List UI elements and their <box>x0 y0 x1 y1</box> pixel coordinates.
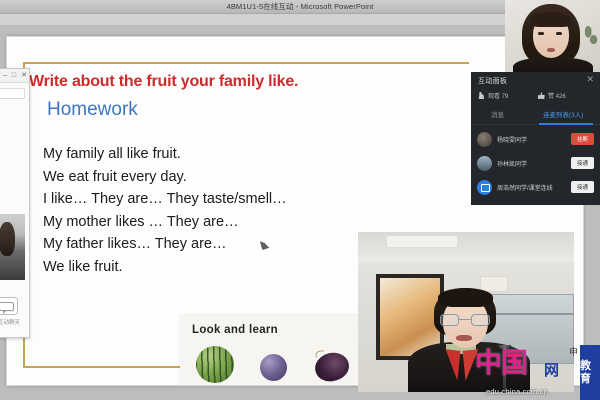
like-count: 赞 426 <box>538 91 566 100</box>
close-icon[interactable]: ✕ <box>586 74 594 85</box>
connect-button[interactable]: 接通 <box>571 157 594 169</box>
body-line: I like… They are… They taste/smell… <box>43 188 287 211</box>
body-line: We eat fruit every day. <box>43 166 287 189</box>
live-interaction-panel[interactable]: 互动面板 ✕ 观看 79 赞 426 消息 连麦列表(3人) 杨晓雯同学 挂断 <box>471 72 600 205</box>
thumbs-up-icon <box>538 92 545 99</box>
glasses-icon <box>440 314 490 326</box>
live-panel-tabs: 消息 连麦列表(3人) <box>471 106 600 125</box>
viewer-count-label: 观看 79 <box>488 91 508 100</box>
tab-messages[interactable]: 消息 <box>491 109 504 119</box>
chat-dots-icon: ··· <box>6 310 15 314</box>
maximize-button[interactable]: □ <box>10 72 18 80</box>
watermelon-icon <box>196 346 234 383</box>
close-button[interactable]: ✕ <box>20 72 28 80</box>
look-and-learn-title: Look and learn <box>192 324 278 336</box>
student-mouth <box>456 335 472 341</box>
chat-button-label: 互动聊天 <box>0 318 30 326</box>
tab-active-indicator <box>539 123 593 125</box>
glasses-lens-right <box>471 314 490 326</box>
avatar-video-icon <box>477 180 492 195</box>
webcam-thumbnail[interactable] <box>0 214 25 280</box>
connect-button[interactable]: 接通 <box>571 181 594 193</box>
people-icon <box>478 92 485 99</box>
floating-window-titlebar: – □ ✕ <box>0 69 30 83</box>
floating-tool-window[interactable]: – □ ✕ ··· 互动聊天 <box>0 68 30 338</box>
teacher-eye-left <box>538 32 544 35</box>
list-item: watermelon <box>187 346 243 386</box>
watermark: 中国 网 edu.china.com.cn 申 教育 <box>470 345 600 400</box>
live-panel-header: 互动面板 ✕ <box>471 72 600 89</box>
watermark-edu-badge: 教育 <box>580 345 600 400</box>
look-and-learn-items: watermelon grape plum <box>186 346 361 386</box>
participant-name: 孙林凯同学 <box>497 159 571 168</box>
list-item: grape <box>245 354 301 386</box>
live-panel-stats: 观看 79 赞 426 <box>478 91 596 104</box>
ceiling-panel <box>386 235 458 248</box>
avatar <box>477 156 492 171</box>
watermark-net-text: 网 <box>544 363 559 379</box>
tab-connect-list[interactable]: 连麦列表(3人) <box>543 109 583 119</box>
glasses-bridge <box>459 319 471 320</box>
red-scarf-left <box>442 349 460 380</box>
screen-root: 4BM1U1-5在线互动 - Microsoft PowerPoint Writ… <box>0 0 600 400</box>
like-count-label: 赞 426 <box>548 91 566 100</box>
grape-icon <box>260 354 287 381</box>
slide-headline: Write about the fruit your family like. <box>29 73 298 91</box>
participant-name: 周浩然同学/课堂连线 <box>497 183 571 192</box>
list-item[interactable]: 周浩然同学/课堂连线 接通 <box>471 175 600 199</box>
viewer-count: 观看 79 <box>478 91 508 100</box>
room-ceiling <box>358 232 574 262</box>
teacher-eye-right <box>556 32 562 35</box>
connect-list: 杨晓雯同学 挂断 孙林凯同学 接通 周浩然同学/课堂连线 接通 <box>471 127 600 199</box>
teacher-mouth <box>547 48 555 52</box>
list-item[interactable]: 孙林凯同学 接通 <box>471 151 600 175</box>
minimize-button[interactable]: – <box>1 72 9 80</box>
chat-bubble-icon: ··· <box>0 302 14 311</box>
teacher-camera[interactable] <box>505 0 600 80</box>
avatar <box>477 132 492 147</box>
hangup-button[interactable]: 挂断 <box>571 133 594 145</box>
body-line: My mother likes … They are… <box>43 211 287 234</box>
plum-stem-icon <box>315 350 324 358</box>
teacher-fringe <box>531 12 571 27</box>
slide-body-text: My family all like fruit. We eat fruit e… <box>43 143 287 278</box>
live-panel-title: 互动面板 <box>478 76 507 86</box>
body-line: We like fruit. <box>43 256 287 279</box>
search-input[interactable] <box>0 88 25 99</box>
body-line: My father likes… They are… <box>43 233 287 256</box>
body-line: My family all like fruit. <box>43 143 287 166</box>
watermark-shen-text: 申 <box>569 347 578 357</box>
watermark-url: edu.china.com.cn <box>486 387 548 396</box>
glasses-lens-left <box>440 314 459 326</box>
list-item: plum <box>304 353 360 386</box>
watermark-logo-text: 中国 <box>475 348 527 378</box>
slide-border-top <box>23 62 469 64</box>
plum-icon <box>312 349 352 384</box>
plant-decoration <box>581 24 599 50</box>
chat-button[interactable]: ··· <box>0 297 18 315</box>
list-item[interactable]: 杨晓雯同学 挂断 <box>471 127 600 151</box>
look-and-learn-card: Look and learn watermelon grape plum <box>180 315 367 386</box>
participant-name: 杨晓雯同学 <box>497 135 571 144</box>
student-fringe <box>438 288 493 307</box>
slide-subheading: Homework <box>47 99 138 121</box>
